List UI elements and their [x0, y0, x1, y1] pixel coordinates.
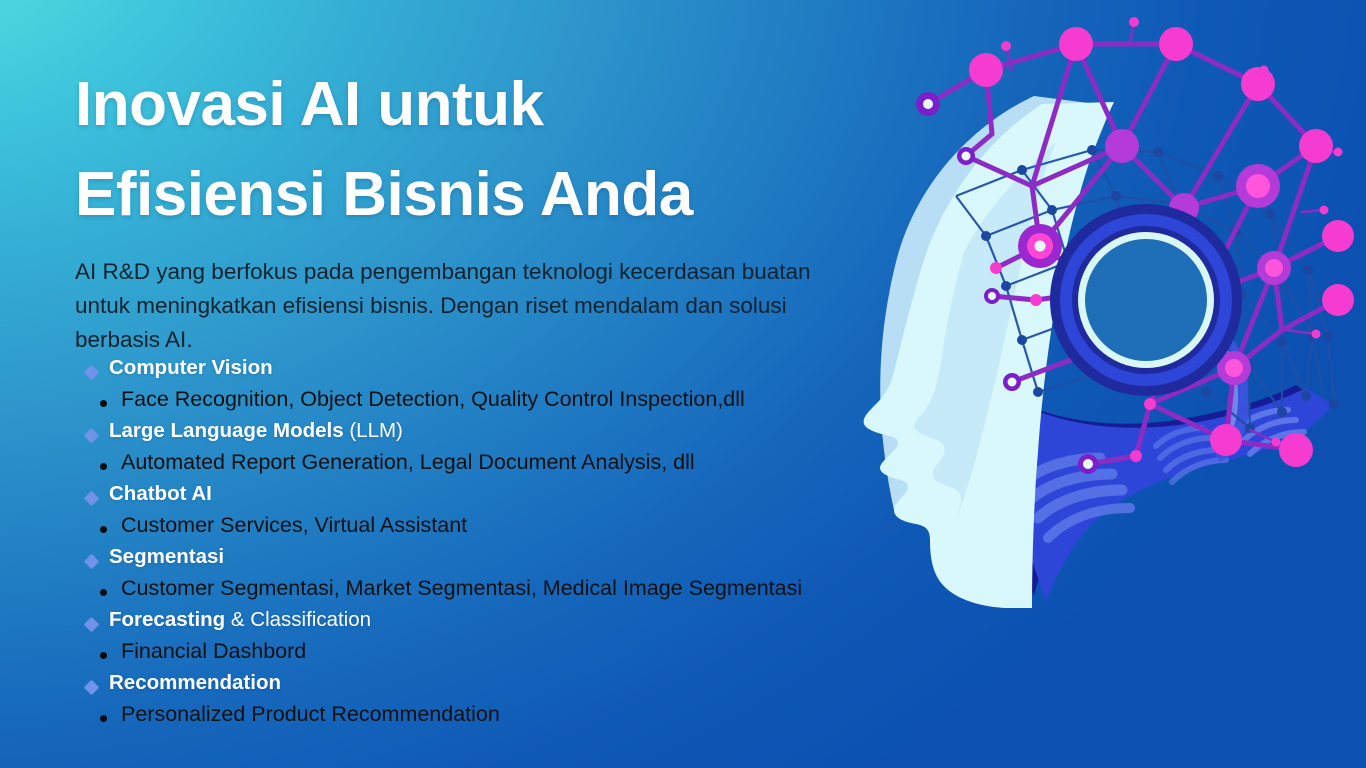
title-line-2: Efisiensi Bisnis Anda [75, 164, 905, 226]
diamond-bullet-icon [84, 554, 100, 570]
page-title: Inovasi AI untuk Efisiensi Bisnis Anda [75, 74, 905, 226]
capability-heading-label: Computer Vision [109, 358, 273, 379]
neural-network-brain [916, 17, 1354, 474]
capability-heading-row: Computer Vision [75, 358, 945, 389]
slide-canvas: Inovasi AI untuk Efisiensi Bisnis Anda A… [0, 0, 1366, 768]
capability-heading-label: Chatbot AI [109, 484, 212, 505]
ear-ring-circle [1050, 204, 1242, 396]
capability-detail-label: Financial Dashbord [121, 641, 306, 663]
title-line-1: Inovasi AI untuk [75, 74, 905, 136]
dot-bullet-icon [100, 715, 107, 722]
diamond-bullet-icon [84, 680, 100, 696]
capability-detail-label: Automated Report Generation, Legal Docum… [121, 452, 695, 474]
capability-detail-row: Personalized Product Recommendation [75, 704, 945, 736]
dot-bullet-icon [100, 652, 107, 659]
dot-bullet-icon [100, 526, 107, 533]
dot-bullet-icon [100, 463, 107, 470]
capability-detail-label: Customer Segmentasi, Market Segmentasi, … [121, 578, 802, 600]
capability-heading-suffix: & Classification [225, 608, 371, 631]
capability-heading-label: Segmentasi [109, 547, 224, 568]
capability-detail-label: Personalized Product Recommendation [121, 704, 500, 726]
capability-heading-row: Chatbot AI [75, 484, 945, 515]
capability-list: Computer VisionFace Recognition, Object … [75, 358, 945, 736]
capability-heading-label: Forecasting & Classification [109, 610, 371, 631]
capability-detail-row: Face Recognition, Object Detection, Qual… [75, 389, 945, 421]
dot-bullet-icon [100, 589, 107, 596]
diamond-bullet-icon [84, 365, 100, 381]
capability-detail-row: Customer Services, Virtual Assistant [75, 515, 945, 547]
capability-heading-row: Large Language Models (LLM) [75, 421, 945, 452]
dot-bullet-icon [100, 400, 107, 407]
capability-heading-suffix: (LLM) [344, 419, 403, 442]
network-node [969, 27, 1354, 467]
capability-heading-label: Large Language Models (LLM) [109, 421, 403, 442]
intro-paragraph: AI R&D yang berfokus pada pengembangan t… [75, 255, 835, 356]
capability-heading-row: Forecasting & Classification [75, 610, 945, 641]
diamond-bullet-icon [84, 617, 100, 633]
capability-detail-label: Customer Services, Virtual Assistant [121, 515, 467, 537]
neck-collar [958, 318, 1332, 602]
diamond-bullet-icon [84, 491, 100, 507]
capability-heading-label: Recommendation [109, 673, 281, 694]
capability-heading-row: Recommendation [75, 673, 945, 704]
text-content-column: Inovasi AI untuk Efisiensi Bisnis Anda A… [0, 0, 940, 768]
capability-heading-row: Segmentasi [75, 547, 945, 578]
network-node-ringed [1018, 164, 1291, 385]
capability-detail-row: Financial Dashbord [75, 641, 945, 673]
capability-detail-row: Customer Segmentasi, Market Segmentasi, … [75, 578, 945, 610]
capability-detail-row: Automated Report Generation, Legal Docum… [75, 452, 945, 484]
diamond-bullet-icon [84, 428, 100, 444]
capability-detail-label: Face Recognition, Object Detection, Qual… [121, 389, 745, 411]
